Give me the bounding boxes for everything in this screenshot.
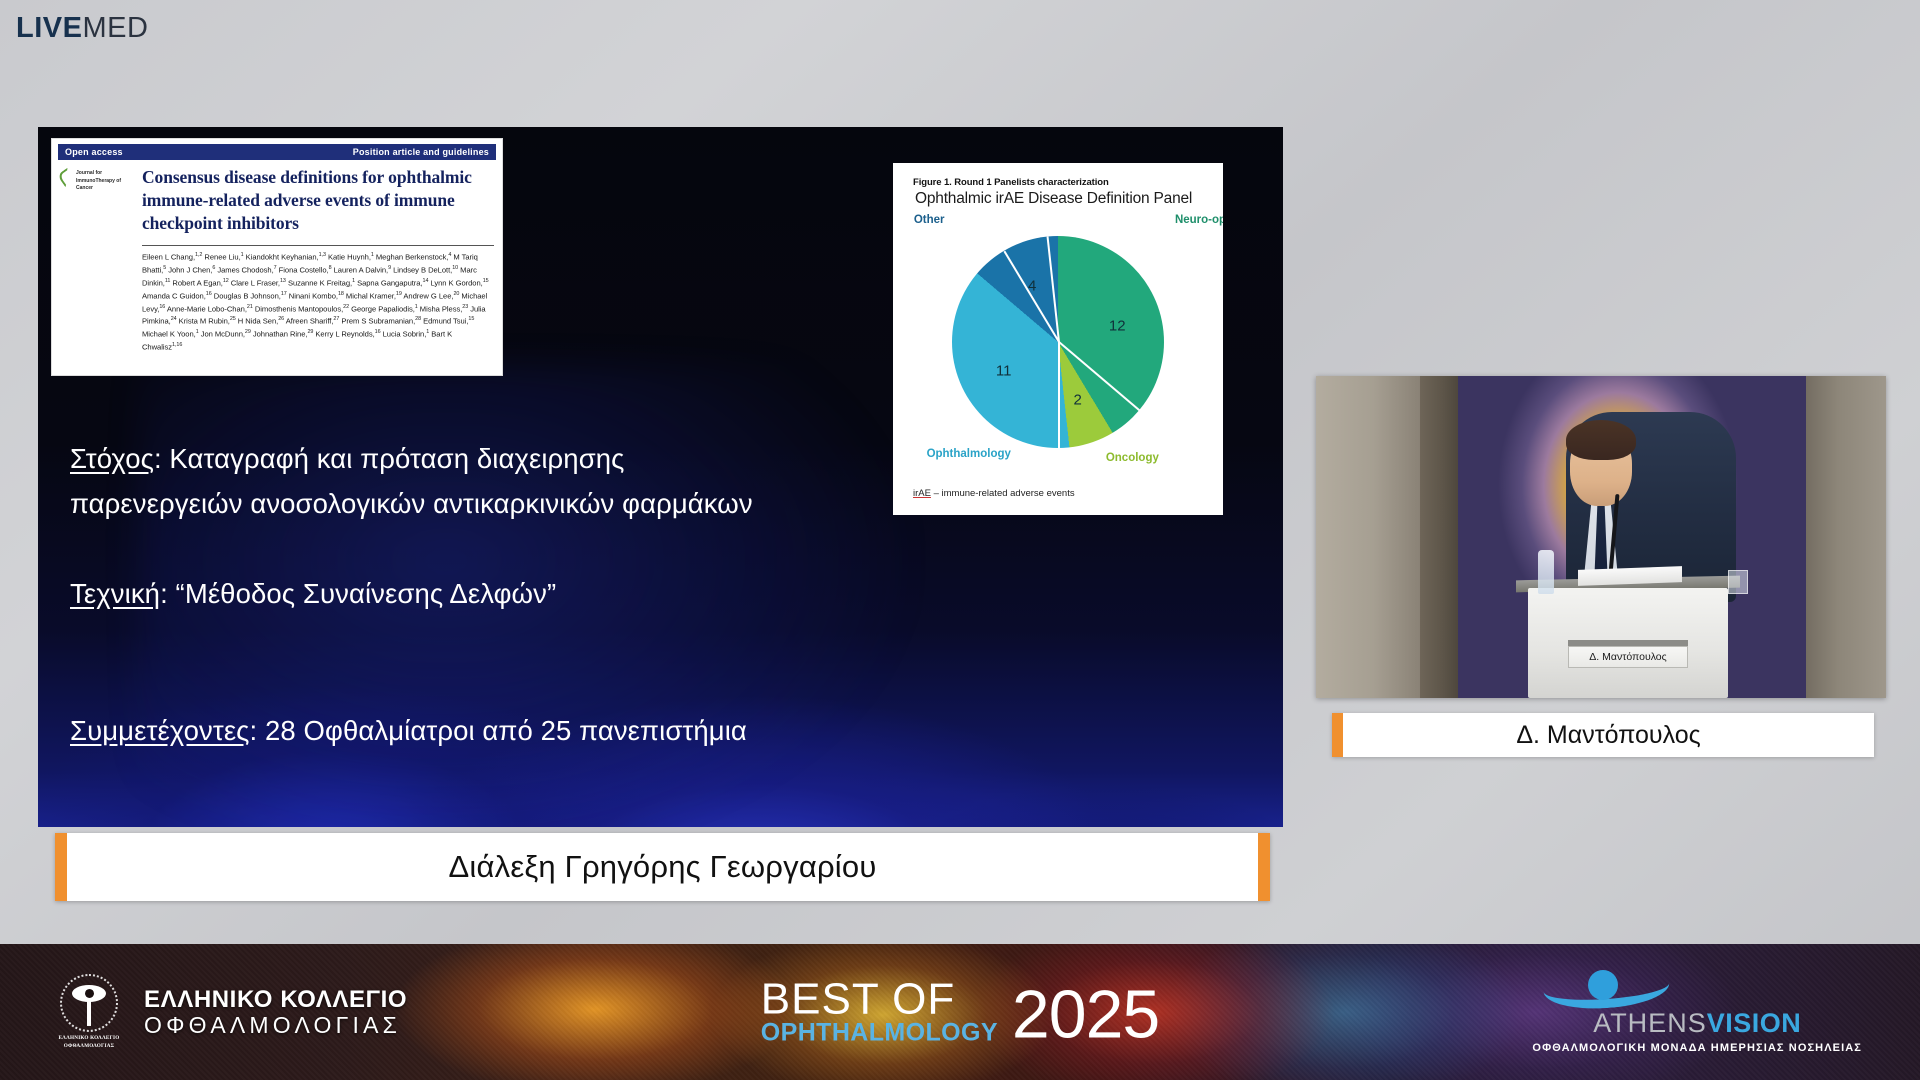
speaker-name-bar: Δ. Μαντόπουλος <box>1332 713 1874 757</box>
paper-screenshot: Open access Position article and guideli… <box>52 139 502 375</box>
athens-vision-subtitle: ΟΦΘΑΛΜΟΛΟΓΙΚΗ ΜΟΝΑΔΑ ΗΜΕΡΗΣΙΑΣ ΝΟΣΗΛΕΙΑΣ <box>1532 1042 1862 1054</box>
paper-divider <box>142 245 494 246</box>
pie-slice-divider <box>1058 342 1060 448</box>
chart-figure-label: Figure 1. Round 1 Panelists characteriza… <box>893 177 1223 188</box>
room-wall-right <box>1806 376 1886 698</box>
journal-logo-icon: Journal for ImmunoTherapy of Cancer <box>60 166 138 354</box>
paper-access-band: Open access Position article and guideli… <box>58 144 496 160</box>
podium-nameplate: Δ. Μαντόπουλος <box>1568 646 1688 668</box>
slide-line-objective-cont: παρενεργειών ανοσολογικών αντικαρκινικών… <box>70 482 1243 527</box>
slide-line-objective-cont-text: παρενεργειών ανοσολογικών αντικαρκινικών… <box>70 488 753 519</box>
slide-line-participants-label: Συμμετέχοντες <box>70 715 250 746</box>
pie-graphic <box>952 236 1164 448</box>
pie-slice-divider <box>1058 341 1140 411</box>
speaker-hair <box>1566 420 1636 460</box>
athens-vision-name: ATHENSVISION <box>1532 1010 1862 1037</box>
emblem-laurel-ring-icon <box>60 974 118 1032</box>
paper-body: Journal for ImmunoTherapy of Cancer Cons… <box>52 160 502 354</box>
hellenic-college-line1: ΕΛΛΗΝΙΚΟ ΚΟΛΛΕΓΙΟ <box>144 987 407 1013</box>
hellenic-college-logo: ΕΛΛΗΝΙΚΟ ΚΟΛΛΕΓΙΟ ΟΦΘΑΛΜΟΛΟΓΙΑΣ ΕΛΛΗΝΙΚΟ… <box>56 974 407 1050</box>
journal-logo-text: Journal for ImmunoTherapy of Cancer <box>76 170 138 193</box>
logo-med-text: MED <box>82 12 148 44</box>
emblem-caption: ΕΛΛΗΝΙΚΟ ΚΟΛΛΕΓΙΟ ΟΦΘΑΛΜΟΛΟΓΙΑΣ <box>56 1035 122 1050</box>
slide-line-technique-text: : “Μέθοδος Συναίνεσης Δελφών” <box>160 578 556 609</box>
hellenic-college-line2: ΟΦΘΑΛΜΟΛΟΓΙΑΣ <box>144 1013 407 1038</box>
slide-line-objective-label: Στόχος <box>70 443 154 474</box>
slide-body-text: Στόχος: Καταγραφή και πρόταση διαχειρηση… <box>70 437 1243 753</box>
livemed-logo: LIVEMED <box>16 14 148 43</box>
chart-title: Ophthalmic irAE Disease Definition Panel <box>893 190 1223 208</box>
emblem-caduceus-icon <box>87 1000 91 1026</box>
pie-slice-label: Neuro-ophthalmology <box>1175 214 1223 226</box>
athens-vision-eye-icon <box>1532 970 1682 1008</box>
room-wall-left <box>1316 376 1420 698</box>
water-bottle <box>1538 550 1554 594</box>
slide-line-participants-text: : 28 Οφθαλμίατροι από 25 πανεπιστήμια <box>250 715 747 746</box>
water-glass <box>1728 570 1748 594</box>
lecture-title-bar: Διάλεξη Γρηγόρης Γεωργαρίου <box>55 833 1270 901</box>
slide-line-technique: Τεχνική: “Μέθοδος Συναίνεσης Δελφών” <box>70 572 1243 617</box>
event-logo: BEST OF OPHTHALMOLOGY 2025 <box>761 979 1159 1046</box>
room-pillar <box>1420 376 1458 698</box>
hellenic-college-name: ΕΛΛΗΝΙΚΟ ΚΟΛΛΕΓΙΟ ΟΦΘΑΛΜΟΛΟΓΙΑΣ <box>144 987 407 1038</box>
lecture-title-text: Διάλεξη Γρηγόρης Γεωργαρίου <box>449 849 877 885</box>
journal-logo-line2: ImmunoTherapy of Cancer <box>76 178 138 193</box>
paper-title-column: Consensus disease definitions for ophtha… <box>138 166 494 354</box>
athens-vision-logo: ATHENSVISION ΟΦΘΑΛΜΟΛΟΓΙΚΗ ΜΟΝΑΔΑ ΗΜΕΡΗΣ… <box>1532 970 1862 1054</box>
pie-slice-value: 4 <box>1028 278 1036 295</box>
paper-open-access-label: Open access <box>65 147 123 157</box>
athens-vision-pupil-icon <box>1588 970 1618 1000</box>
slide-line-technique-label: Τεχνική <box>70 578 160 609</box>
speaker-name-text: Δ. Μαντόπουλος <box>1516 721 1700 750</box>
event-best-of-text: BEST OF <box>761 979 955 1021</box>
emblem-caption-line2: ΟΦΘΑΛΜΟΛΟΓΙΑΣ <box>56 1043 122 1051</box>
pie-slice-value: 11 <box>996 362 1012 379</box>
pie-slice-value: 12 <box>1109 317 1126 334</box>
athens-vision-vision-text: VISION <box>1707 1008 1802 1038</box>
paper-article-type-label: Position article and guidelines <box>353 147 489 157</box>
presentation-slide[interactable]: Open access Position article and guideli… <box>38 127 1283 827</box>
journal-leaf-icon <box>57 168 76 188</box>
slide-spacer-1 <box>70 526 1243 572</box>
logo-live-text: LIVE <box>16 12 82 44</box>
pie-wrap: 122114Neuro-ophthalmologyOncologyOphthal… <box>952 236 1164 448</box>
paper-title: Consensus disease definitions for ophtha… <box>142 166 494 235</box>
paper-author-list: Eileen L Chang,1,2 Renee Liu,1 Kiandokht… <box>142 251 494 354</box>
hellenic-college-emblem-icon: ΕΛΛΗΝΙΚΟ ΚΟΛΛΕΓΙΟ ΟΦΘΑΛΜΟΛΟΓΙΑΣ <box>56 974 122 1050</box>
event-footer-banner: ΕΛΛΗΝΙΚΟ ΚΟΛΛΕΓΙΟ ΟΦΘΑΛΜΟΛΟΓΙΑΣ ΕΛΛΗΝΙΚΟ… <box>0 944 1920 1080</box>
emblem-caption-line1: ΕΛΛΗΝΙΚΟ ΚΟΛΛΕΓΙΟ <box>56 1035 122 1043</box>
event-ophthalmology-text: OPHTHALMOLOGY <box>761 1020 998 1045</box>
slide-line-objective-text: : Καταγραφή και πρόταση διαχειρησης <box>154 443 625 474</box>
slide-line-objective: Στόχος: Καταγραφή και πρόταση διαχειρηση… <box>70 437 1243 482</box>
slide-line-participants: Συμμετέχοντες: 28 Οφθαλμίατροι από 25 πα… <box>70 709 1243 754</box>
slide-spacer-2 <box>70 617 1243 663</box>
event-logo-stack: BEST OF OPHTHALMOLOGY <box>761 979 998 1046</box>
athens-vision-athens-text: ATHENS <box>1593 1008 1707 1038</box>
slide-spacer-3 <box>70 663 1243 709</box>
pie-slice-label: Other <box>914 214 945 226</box>
speaker-video-panel[interactable]: RE OP Δ. Μαντόπουλος <box>1316 376 1886 698</box>
journal-logo-line1: Journal for <box>76 170 138 178</box>
pie-slice-value: 2 <box>1073 392 1081 409</box>
event-year-text: 2025 <box>1012 984 1159 1045</box>
podium-nameplate-text: Δ. Μαντόπουλος <box>1589 651 1666 663</box>
